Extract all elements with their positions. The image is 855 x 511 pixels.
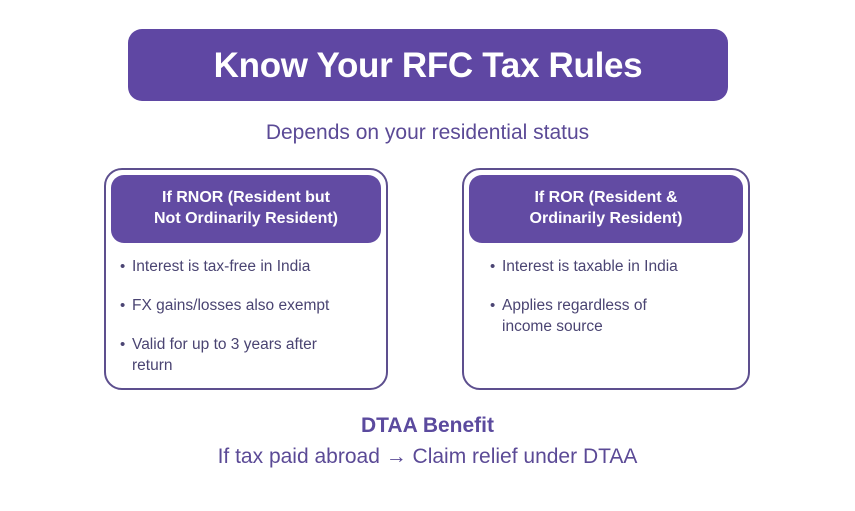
footer-subtitle: If tax paid abroad → Claim relief under … <box>0 443 855 470</box>
list-item-label: Interest is taxable in India <box>502 256 734 277</box>
page-subtitle: Depends on your residential status <box>0 120 855 145</box>
bullet-icon: • <box>490 256 502 277</box>
list-item: • Applies regardless of income source <box>490 295 734 337</box>
page-title: Know Your RFC Tax Rules <box>214 48 643 83</box>
footer-section: DTAA Benefit If tax paid abroad → Claim … <box>0 412 855 471</box>
card-rnor: If RNOR (Resident but Not Ordinarily Res… <box>104 168 388 390</box>
footer-title: DTAA Benefit <box>0 412 855 439</box>
title-banner: Know Your RFC Tax Rules <box>128 29 728 101</box>
cards-row: If RNOR (Resident but Not Ordinarily Res… <box>0 168 855 392</box>
bullet-icon: • <box>120 334 132 355</box>
bullet-icon: • <box>120 256 132 277</box>
card-rnor-header-label: If RNOR (Resident but Not Ordinarily Res… <box>121 187 371 230</box>
list-item-label: Applies regardless of income source <box>502 295 734 337</box>
bullet-icon: • <box>120 295 132 316</box>
list-item: • Interest is tax-free in India <box>120 256 372 277</box>
list-item-label: Interest is tax-free in India <box>132 256 372 277</box>
card-ror-header: If ROR (Resident & Ordinarily Resident) <box>469 175 743 243</box>
card-ror-body: • Interest is taxable in India • Applies… <box>464 256 748 355</box>
infographic-root: Know Your RFC Tax Rules Depends on your … <box>0 0 855 511</box>
list-item: • Valid for up to 3 years after return <box>120 334 372 376</box>
list-item: • Interest is taxable in India <box>490 256 734 277</box>
card-rnor-body: • Interest is tax-free in India • FX gai… <box>106 256 386 390</box>
list-item-label: FX gains/losses also exempt <box>132 295 372 316</box>
card-ror: If ROR (Resident & Ordinarily Resident) … <box>462 168 750 390</box>
bullet-icon: • <box>490 295 502 316</box>
list-item: • FX gains/losses also exempt <box>120 295 372 316</box>
card-ror-header-label: If ROR (Resident & Ordinarily Resident) <box>479 187 733 230</box>
list-item-label: Valid for up to 3 years after return <box>132 334 372 376</box>
card-rnor-header: If RNOR (Resident but Not Ordinarily Res… <box>111 175 381 243</box>
